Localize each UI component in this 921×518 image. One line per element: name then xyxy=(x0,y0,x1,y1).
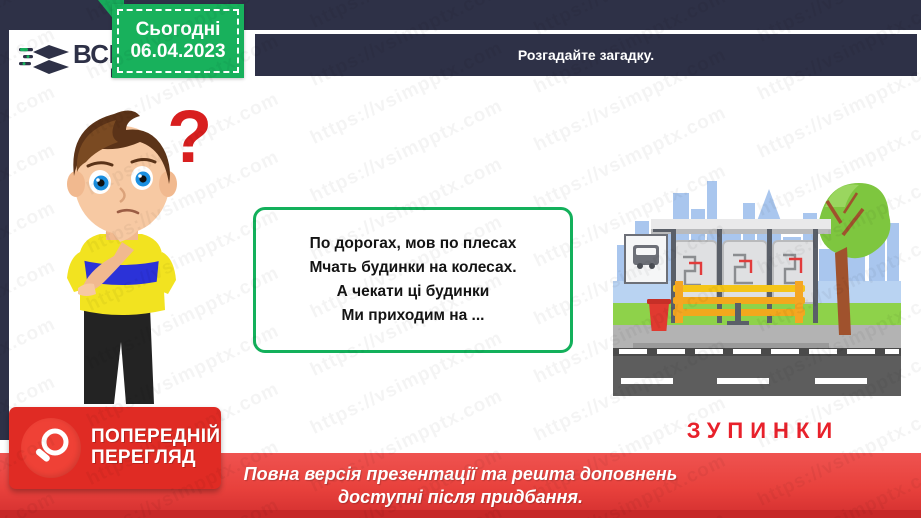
shelter-roof xyxy=(651,219,831,229)
bus-stop-illustration xyxy=(613,163,901,396)
slide-canvas: ВСІМ pptx Сьогодні 06.04.2023 Розгадайте… xyxy=(0,0,921,518)
left-dark-strip xyxy=(0,0,9,440)
slide-title-bar: Розгадайте загадку. xyxy=(255,34,917,76)
date-badge-value: 06.04.2023 xyxy=(130,41,225,63)
preview-button[interactable]: ПОПЕРЕДНІЙ ПЕРЕГЛЯД xyxy=(9,407,221,489)
date-badge: Сьогодні 06.04.2023 xyxy=(112,4,244,78)
riddle-line: Мчать будинки на колесах. xyxy=(309,256,516,280)
graduation-cap-icon xyxy=(19,39,71,79)
date-badge-label: Сьогодні xyxy=(136,19,221,41)
purchase-banner-line1: Повна версія презентації та решта доповн… xyxy=(244,463,678,486)
preview-button-label: ПОПЕРЕДНІЙ ПЕРЕГЛЯД xyxy=(91,427,220,468)
magnifier-icon xyxy=(21,418,81,478)
banner-bottom-strip xyxy=(0,510,921,518)
shelter-panel xyxy=(723,241,767,303)
riddle-line: По дорогах, мов по плесах xyxy=(310,232,517,256)
purchase-banner-line2: доступні після придбання. xyxy=(338,486,583,509)
preview-button-line1: ПОПЕРЕДНІЙ xyxy=(91,427,220,448)
svg-text:?: ? xyxy=(167,95,212,178)
question-mark: ? xyxy=(167,95,212,178)
bus-stop-sign xyxy=(625,229,675,283)
riddle-text-box: По дорогах, мов по плесах Мчать будинки … xyxy=(253,207,573,353)
preview-button-line2: ПЕРЕГЛЯД xyxy=(91,448,220,469)
page-title: Розгадайте загадку. xyxy=(518,47,654,63)
riddle-answer: ЗУПИНКИ xyxy=(613,418,913,444)
thinking-boy-illustration: ? xyxy=(22,92,222,422)
riddle-line: А чекати ці будинки xyxy=(337,280,490,304)
road-with-markings xyxy=(613,356,901,396)
riddle-line: Ми приходим на ... xyxy=(342,304,485,328)
